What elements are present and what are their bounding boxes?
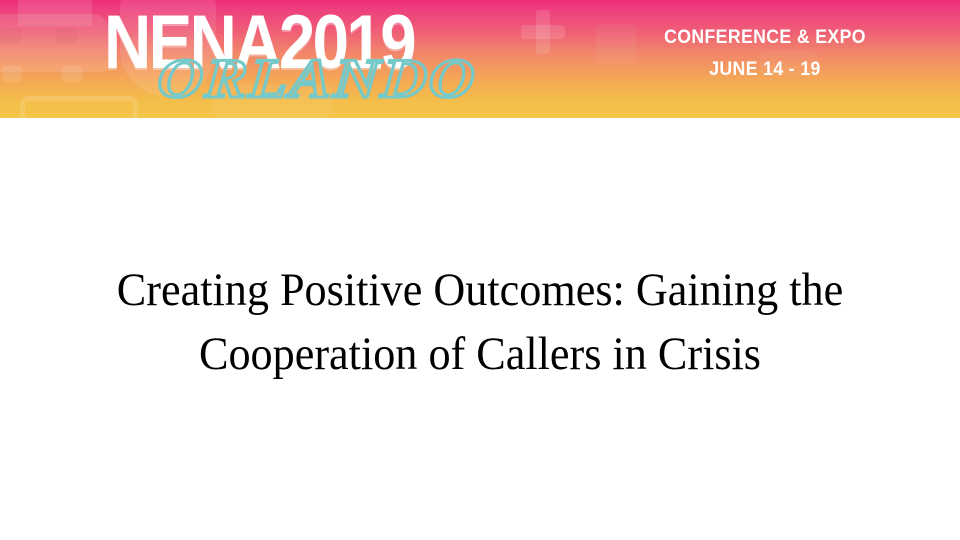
slide-title: Creating Positive Outcomes: Gaining the … xyxy=(57,258,903,386)
slide-title-line-1: Creating Positive Outcomes: Gaining the xyxy=(57,258,903,322)
vehicle-wheel-right-watermark xyxy=(62,66,82,82)
vehicle-wheel-left-watermark xyxy=(2,66,22,82)
vehicle-window-right-watermark xyxy=(56,28,78,43)
slide-body: Creating Positive Outcomes: Gaining the … xyxy=(0,118,960,540)
nena-logo-lockup: NENA2019 ORLANDO xyxy=(104,2,524,118)
medical-cross-icon xyxy=(536,10,550,54)
header-banner: NENA2019 ORLANDO CONFERENCE & EXPO JUNE … xyxy=(0,0,960,118)
conference-dates-label: JUNE 14 - 19 xyxy=(612,58,919,82)
vehicle-window-left-watermark xyxy=(0,28,22,43)
conference-expo-label: CONFERENCE & EXPO xyxy=(612,26,919,50)
medical-cross-icon-bar xyxy=(521,25,565,39)
logo-city-script: ORLANDO xyxy=(155,50,478,108)
slide-title-line-2: Cooperation of Callers in Crisis xyxy=(57,322,903,386)
vehicle-roof-watermark xyxy=(18,0,92,26)
vehicle-body-watermark xyxy=(0,14,110,72)
header-event-info: CONFERENCE & EXPO JUNE 14 - 19 xyxy=(600,26,930,82)
